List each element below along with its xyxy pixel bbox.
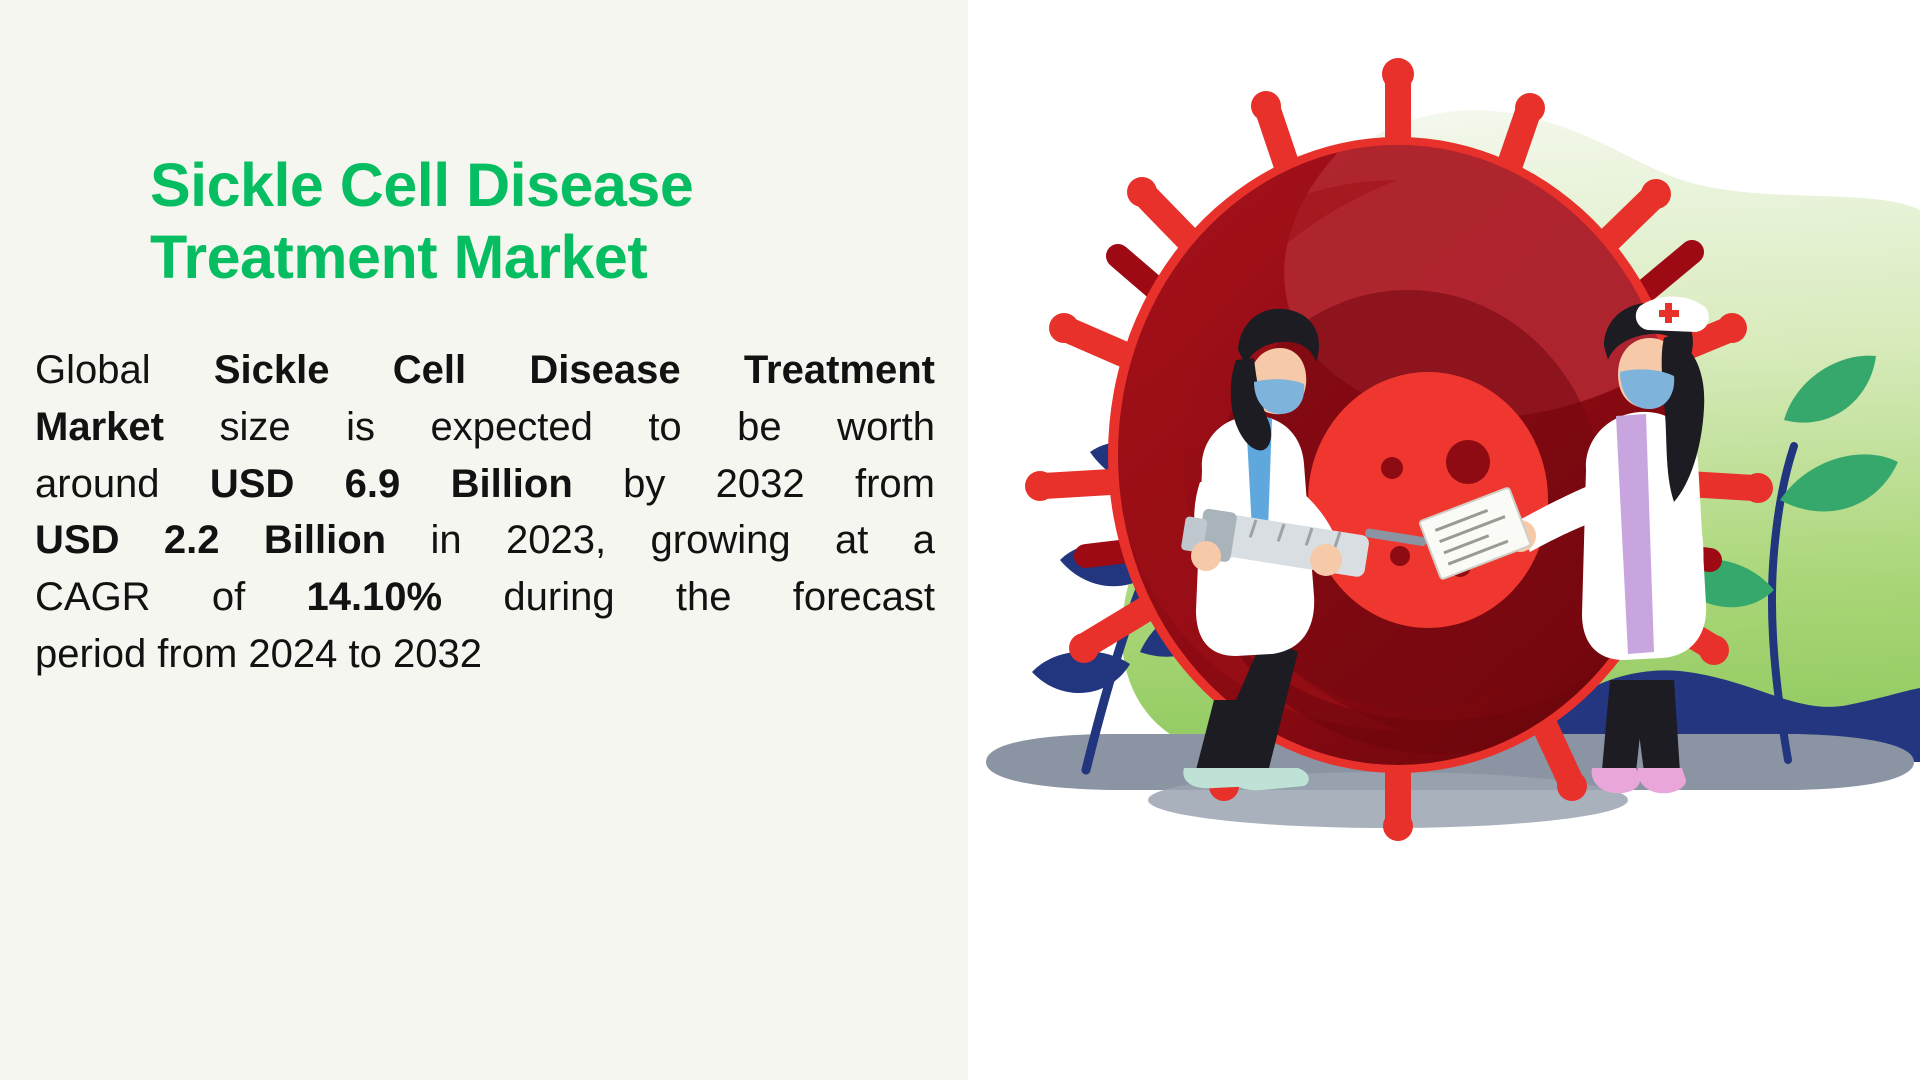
text-segment: during the forecast xyxy=(442,575,935,619)
infographic-page: Sickle Cell Disease Treatment Market Glo… xyxy=(0,0,1920,1080)
page-title-line-2: Treatment Market xyxy=(150,222,850,294)
page-title-line-1: Sickle Cell Disease xyxy=(150,150,850,222)
market-description-paragraph: Global Sickle Cell Disease Treatment Mar… xyxy=(35,342,935,683)
doctor-hand-front xyxy=(1310,544,1342,576)
text-segment: size is expected to be worth xyxy=(164,405,935,449)
doctor-hand-back xyxy=(1191,541,1221,571)
text-segment-bold: USD 6.9 Billion xyxy=(210,462,573,506)
paragraph-line-2: Market size is expected to be worth xyxy=(35,399,935,456)
text-segment: in 2023, growing at a xyxy=(386,518,935,562)
paragraph-line-4: USD 2.2 Billion in 2023, growing at a xyxy=(35,512,935,569)
paragraph-line-5: CAGR of 14.10% during the forecast xyxy=(35,569,935,626)
right-illustration-panel xyxy=(968,0,1920,1080)
paragraph-line-3: around USD 6.9 Billion by 2032 from xyxy=(35,456,935,513)
text-segment-bold: Sickle Cell Disease Treatment xyxy=(214,348,935,392)
text-segment-bold: USD 2.2 Billion xyxy=(35,518,386,562)
text-segment-bold: Market xyxy=(35,405,164,449)
paragraph-line-1: Global Sickle Cell Disease Treatment xyxy=(35,342,935,399)
text-segment-bold: 14.10% xyxy=(306,575,442,619)
text-segment: period from 2024 to 2032 xyxy=(35,632,482,676)
text-segment: by 2032 from xyxy=(573,462,935,506)
text-segment: CAGR of xyxy=(35,575,306,619)
text-segment: Global xyxy=(35,348,214,392)
text-segment: around xyxy=(35,462,210,506)
paragraph-line-6: period from 2024 to 2032 xyxy=(35,626,935,683)
page-title: Sickle Cell Disease Treatment Market xyxy=(150,150,850,294)
left-content-panel: Sickle Cell Disease Treatment Market Glo… xyxy=(0,0,968,1080)
left-content-inner: Sickle Cell Disease Treatment Market Glo… xyxy=(35,150,935,683)
sickle-cell-medical-illustration xyxy=(968,0,1920,1080)
